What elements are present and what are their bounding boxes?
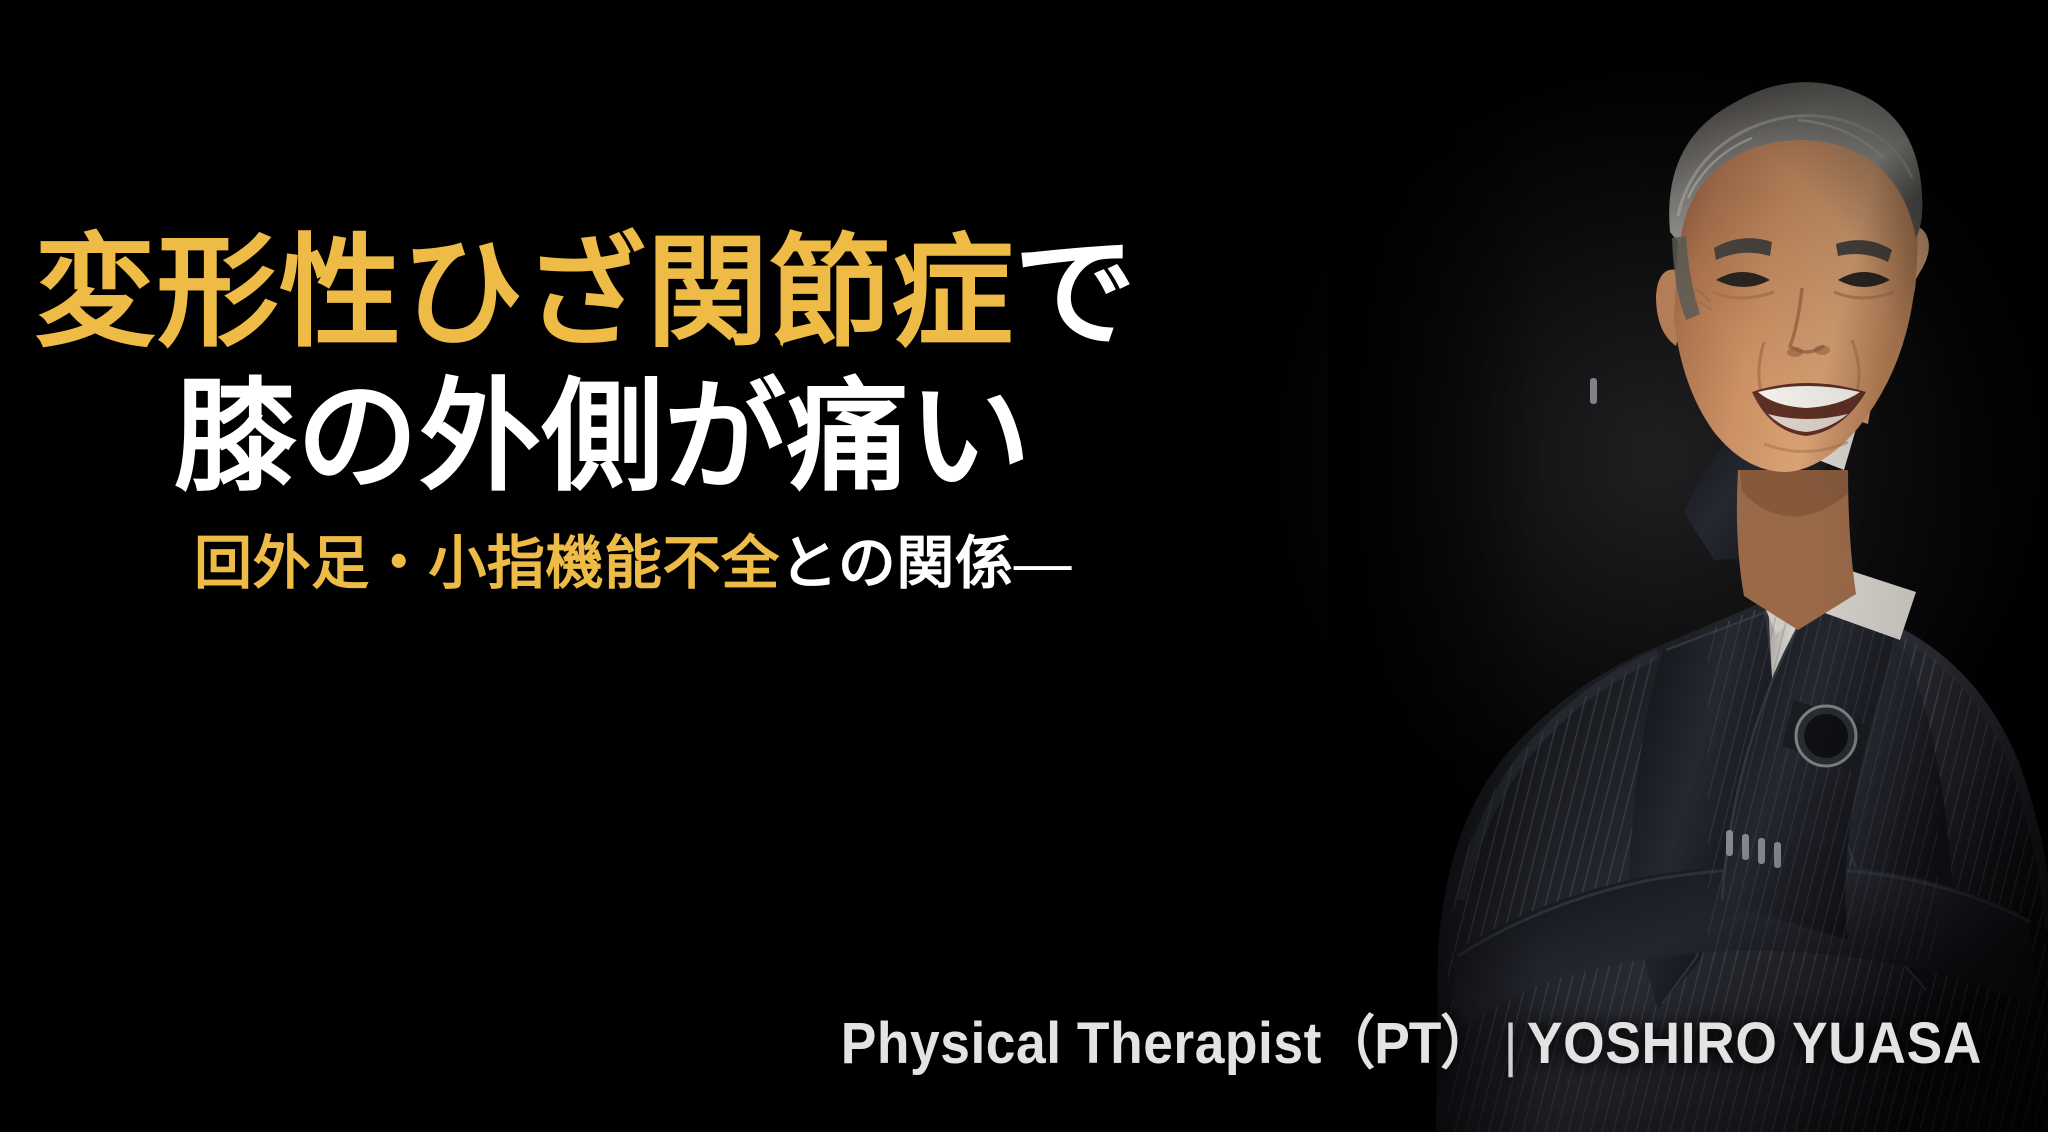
headline-line-1: 変形性ひざ関節症で — [34, 232, 1124, 354]
headline-line-1-white: で — [1014, 225, 1137, 361]
credit-line: Physical Therapist（PT）|YOSHIRO YUASA — [159, 996, 1982, 1080]
subtitle-dash: — — [1014, 531, 1072, 596]
credit-separator: | — [1504, 1012, 1518, 1079]
subtitle-white: との関係 — [780, 531, 1014, 596]
headline-line-2-white: 膝の外側が痛い — [174, 369, 1031, 505]
headline-block: 変形性ひざ関節症で 膝の外側が痛い 回外足・小指機能不全との関係— — [34, 232, 1124, 595]
headline-line-1-gold: 変形性ひざ関節症 — [34, 225, 1014, 361]
headline-line-2: 膝の外側が痛い — [34, 376, 1124, 498]
subtitle-gold: 回外足・小指機能不全 — [194, 531, 780, 596]
promo-banner: 変形性ひざ関節症で 膝の外側が痛い 回外足・小指機能不全との関係— Physic… — [0, 0, 2048, 1132]
credit-role: Physical Therapist — [841, 1011, 1322, 1076]
credit-qualification: （PT） — [1322, 1011, 1493, 1076]
credit-name: YOSHIRO YUASA — [1527, 1011, 1982, 1076]
portrait-photo — [1328, 0, 2048, 1132]
subtitle-line: 回外足・小指機能不全との関係— — [34, 534, 1124, 595]
